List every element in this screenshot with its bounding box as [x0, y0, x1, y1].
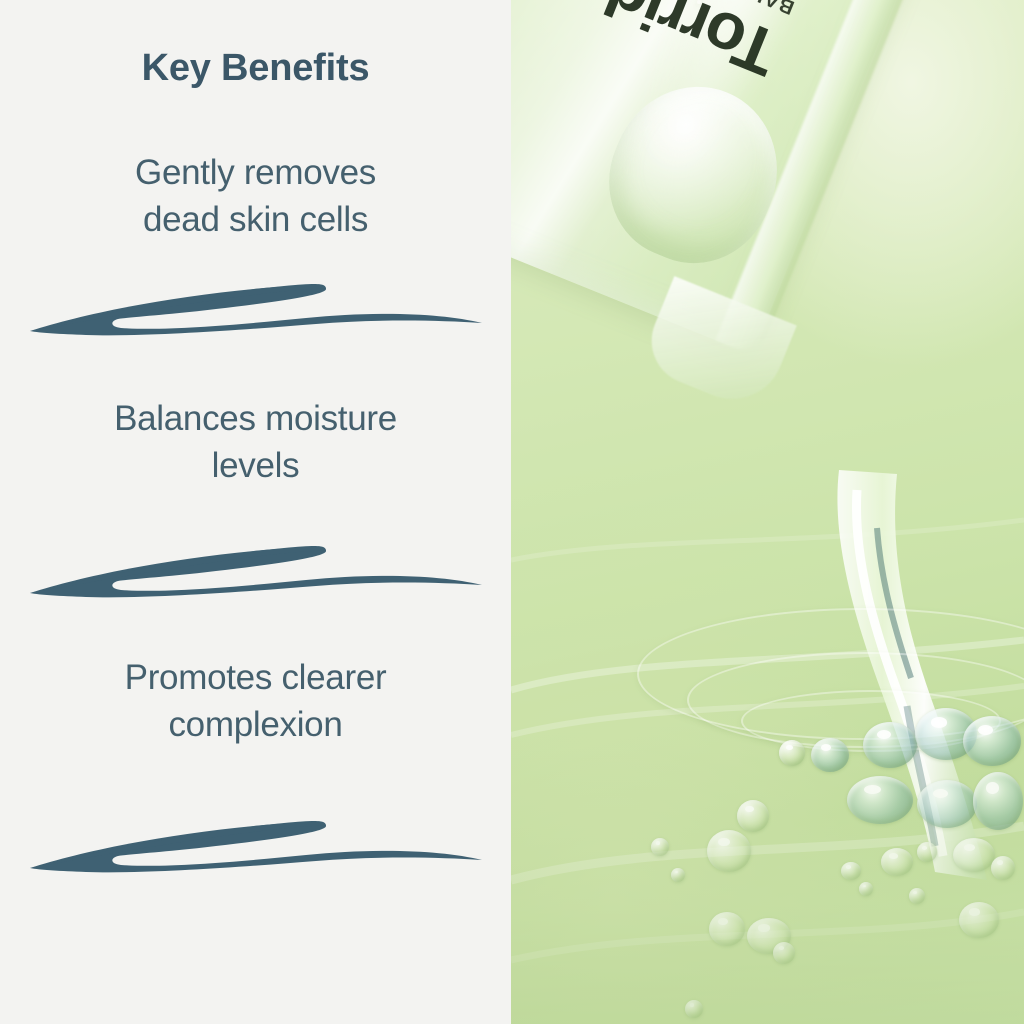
benefit-2-line-2: levels [44, 443, 467, 490]
bubble [963, 716, 1021, 766]
bubble [959, 902, 999, 938]
benefit-1-line-2: dead skin cells [44, 197, 467, 244]
benefit-text-3: Promotes clearer complexion [0, 655, 511, 748]
bubble [671, 868, 685, 882]
bubble [707, 830, 751, 872]
benefit-3-line-1: Promotes clearer [44, 655, 467, 702]
serum-bottle: Torriden BALANCEFUL Peeling +5 [511, 0, 941, 403]
bubble [863, 722, 917, 768]
product-benefits-graphic: Key Benefits Gently removes dead skin ce… [0, 0, 1024, 1024]
bubble [917, 842, 937, 862]
page-title: Key Benefits [0, 48, 511, 90]
bubble [917, 780, 977, 828]
zigzag-swoosh-icon [26, 537, 486, 599]
bubble [973, 772, 1023, 830]
benefit-2-line-1: Balances moisture [44, 396, 467, 443]
divider-3 [0, 812, 511, 874]
bubble [909, 888, 925, 904]
pouring-gel-stream [811, 470, 1001, 890]
bubble [709, 912, 745, 946]
bubble [651, 838, 669, 856]
divider-2 [0, 537, 511, 599]
benefit-text-1: Gently removes dead skin cells [0, 150, 511, 243]
bubble [685, 1000, 703, 1018]
bubble [847, 776, 913, 824]
product-photo: Torriden BALANCEFUL Peeling +5 [511, 0, 1024, 1024]
bubble [881, 848, 913, 876]
bubble [737, 800, 769, 832]
bubble [773, 942, 795, 964]
bubble [779, 740, 805, 766]
zigzag-swoosh-icon [26, 275, 486, 337]
benefit-item-3: Promotes clearer complexion [0, 655, 511, 748]
gel-stream-shape [811, 470, 1001, 890]
bubble [841, 862, 861, 880]
benefit-3-line-2: complexion [44, 702, 467, 749]
bubble [991, 856, 1015, 880]
bubble [859, 882, 873, 896]
divider-1 [0, 275, 511, 337]
benefits-panel: Key Benefits Gently removes dead skin ce… [0, 0, 511, 1024]
benefit-item-2: Balances moisture levels [0, 396, 511, 489]
zigzag-swoosh-icon [26, 812, 486, 874]
bubble [953, 838, 995, 872]
bubble [811, 738, 849, 772]
benefit-text-2: Balances moisture levels [0, 396, 511, 489]
benefit-item-1: Gently removes dead skin cells [0, 150, 511, 243]
benefit-1-line-1: Gently removes [44, 150, 467, 197]
